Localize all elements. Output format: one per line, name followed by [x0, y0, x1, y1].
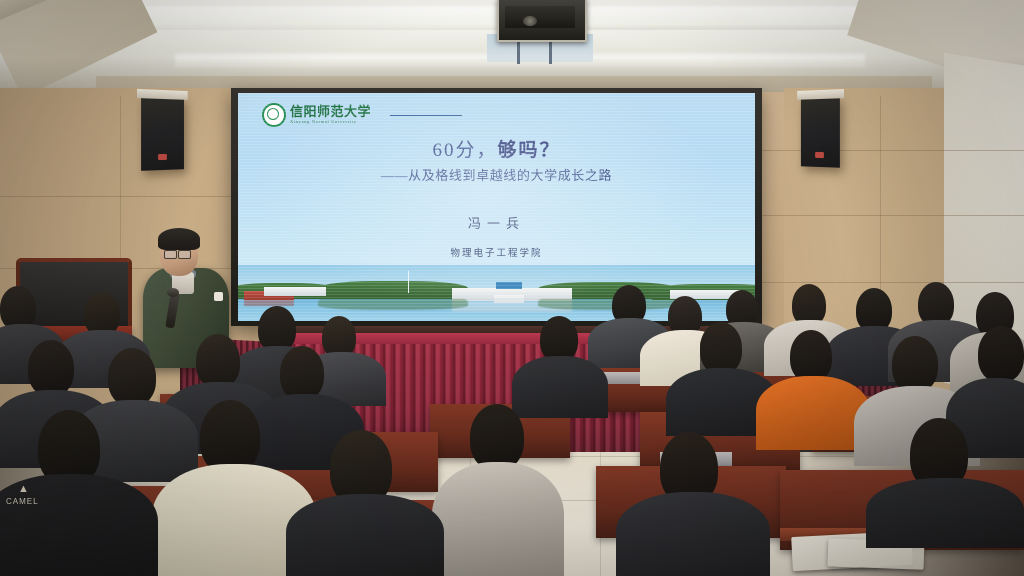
presenter-hair: [158, 228, 200, 250]
audience-shoulders: [756, 376, 870, 450]
audience-shoulders: [512, 356, 608, 418]
speaker-right-logo-icon: [815, 152, 824, 158]
panorama-reflection-hill: [318, 299, 468, 310]
presenter-jacket-badge: [214, 292, 223, 301]
wall-seam-right-2: [762, 215, 1024, 216]
glasses-icon-left: [164, 250, 177, 259]
projector-body: [505, 6, 575, 28]
camel-logo-icon: ▲: [18, 484, 29, 495]
audience-head-foreground: [200, 400, 260, 474]
projector-icon: [497, 0, 587, 42]
camel-brand-text: CAMEL: [6, 497, 39, 506]
university-logo: 信阳师范大学 Xinyang Normal University: [262, 103, 371, 127]
slide-department: 物理电子工程学院: [238, 245, 755, 259]
slide-title-prefix: 60分，: [432, 140, 497, 161]
audience-head: [978, 326, 1024, 382]
university-seal-icon: [262, 103, 286, 127]
logo-underline-rule: [390, 115, 462, 116]
audience-head: [108, 348, 156, 406]
audience-head: [196, 334, 240, 388]
audience-shoulders-foreground: [286, 494, 444, 576]
slide-speaker-name: 冯一兵: [238, 213, 755, 232]
audience-head: [28, 340, 74, 396]
panorama-reflection-pavilion: [244, 299, 294, 306]
audience-shoulders-foreground: [866, 478, 1024, 548]
audience-head: [790, 330, 832, 382]
panorama-main-building-roof: [496, 282, 522, 289]
university-name-cn: 信阳师范大学: [290, 105, 371, 118]
audience-head-foreground: [470, 404, 524, 470]
slide-title-highlight: 够吗？: [498, 140, 561, 161]
panorama-building-left: [264, 287, 326, 296]
university-name-en: Xinyang Normal University: [290, 120, 371, 124]
wall-speaker-right: [801, 96, 840, 167]
audience-head: [280, 346, 324, 400]
audience-shoulders-foreground: [432, 462, 564, 576]
audience-head: [700, 322, 742, 374]
wall-speaker-left: [141, 96, 184, 171]
presentation-screen[interactable]: 信阳师范大学 Xinyang Normal University 60分，够吗？…: [238, 93, 755, 321]
slide-subtitle: ——从及格线到卓越线的大学成长之路: [238, 165, 755, 184]
glasses-icon-right: [178, 250, 191, 259]
audience-head: [892, 336, 938, 392]
panorama-flagpole: [408, 271, 409, 293]
microphone-capsule: [167, 288, 179, 297]
panorama-reflection-hill-2: [538, 299, 678, 310]
slide-title: 60分，够吗？: [238, 135, 755, 162]
panorama-hill-2: [318, 281, 468, 299]
wall-seam-right-3: [762, 282, 1024, 283]
speaker-left-bracket: [137, 89, 188, 100]
lecture-hall-photo: 信阳师范大学 Xinyang Normal University 60分，够吗？…: [0, 0, 1024, 576]
wall-seam-left-1: [0, 196, 231, 197]
projector-lens-icon: [523, 16, 537, 26]
audience-shoulders-foreground: [616, 492, 770, 576]
speaker-right-bracket: [797, 89, 844, 100]
speaker-left-logo-icon: [158, 154, 167, 160]
